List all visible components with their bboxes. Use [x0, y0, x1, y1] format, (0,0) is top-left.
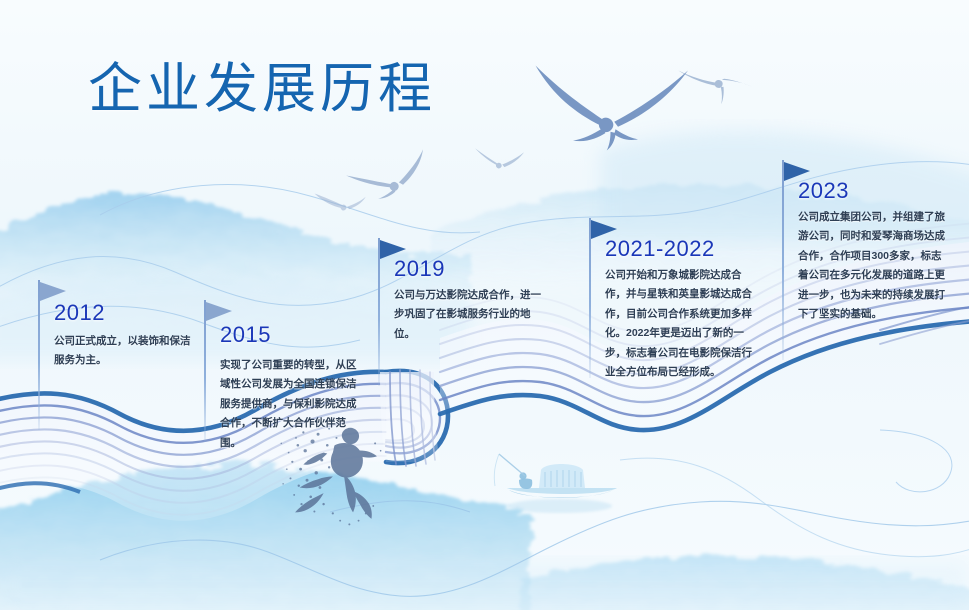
milestone-year: 2015	[220, 322, 271, 348]
milestone-description: 公司正式成立，以装饰和保洁服务为主。	[54, 332, 194, 371]
milestone-description: 实现了公司重要的转型，从区域性公司发展为全国连锁保洁服务提供商，与保利影院达成合…	[220, 356, 360, 453]
milestone-description: 公司成立集团公司，并组建了旅游公司，同时和爱琴海商场达成合作，合作项目300多家…	[798, 208, 948, 325]
flag-pennant-icon	[206, 300, 238, 324]
milestone-year: 2012	[54, 300, 105, 326]
page-title: 企业发展历程	[88, 58, 436, 120]
flag-pole	[782, 160, 784, 360]
milestone-description: 公司与万达影院达成合作，进一步巩固了在影城服务行业的地位。	[394, 286, 544, 344]
milestone-year: 2021-2022	[605, 236, 715, 262]
flag-pole	[589, 218, 591, 378]
milestone-year: 2023	[798, 178, 849, 204]
milestone-year: 2019	[394, 256, 445, 282]
infographic-canvas: 企业发展历程 2012 公司正式成立，以装饰和保洁服务为主。 2015 实现了公…	[0, 0, 969, 610]
milestone-description: 公司开始和万象城影院达成合作，并与星轶和英皇影城达成合作，目前公司合作系统更加多…	[605, 266, 753, 383]
